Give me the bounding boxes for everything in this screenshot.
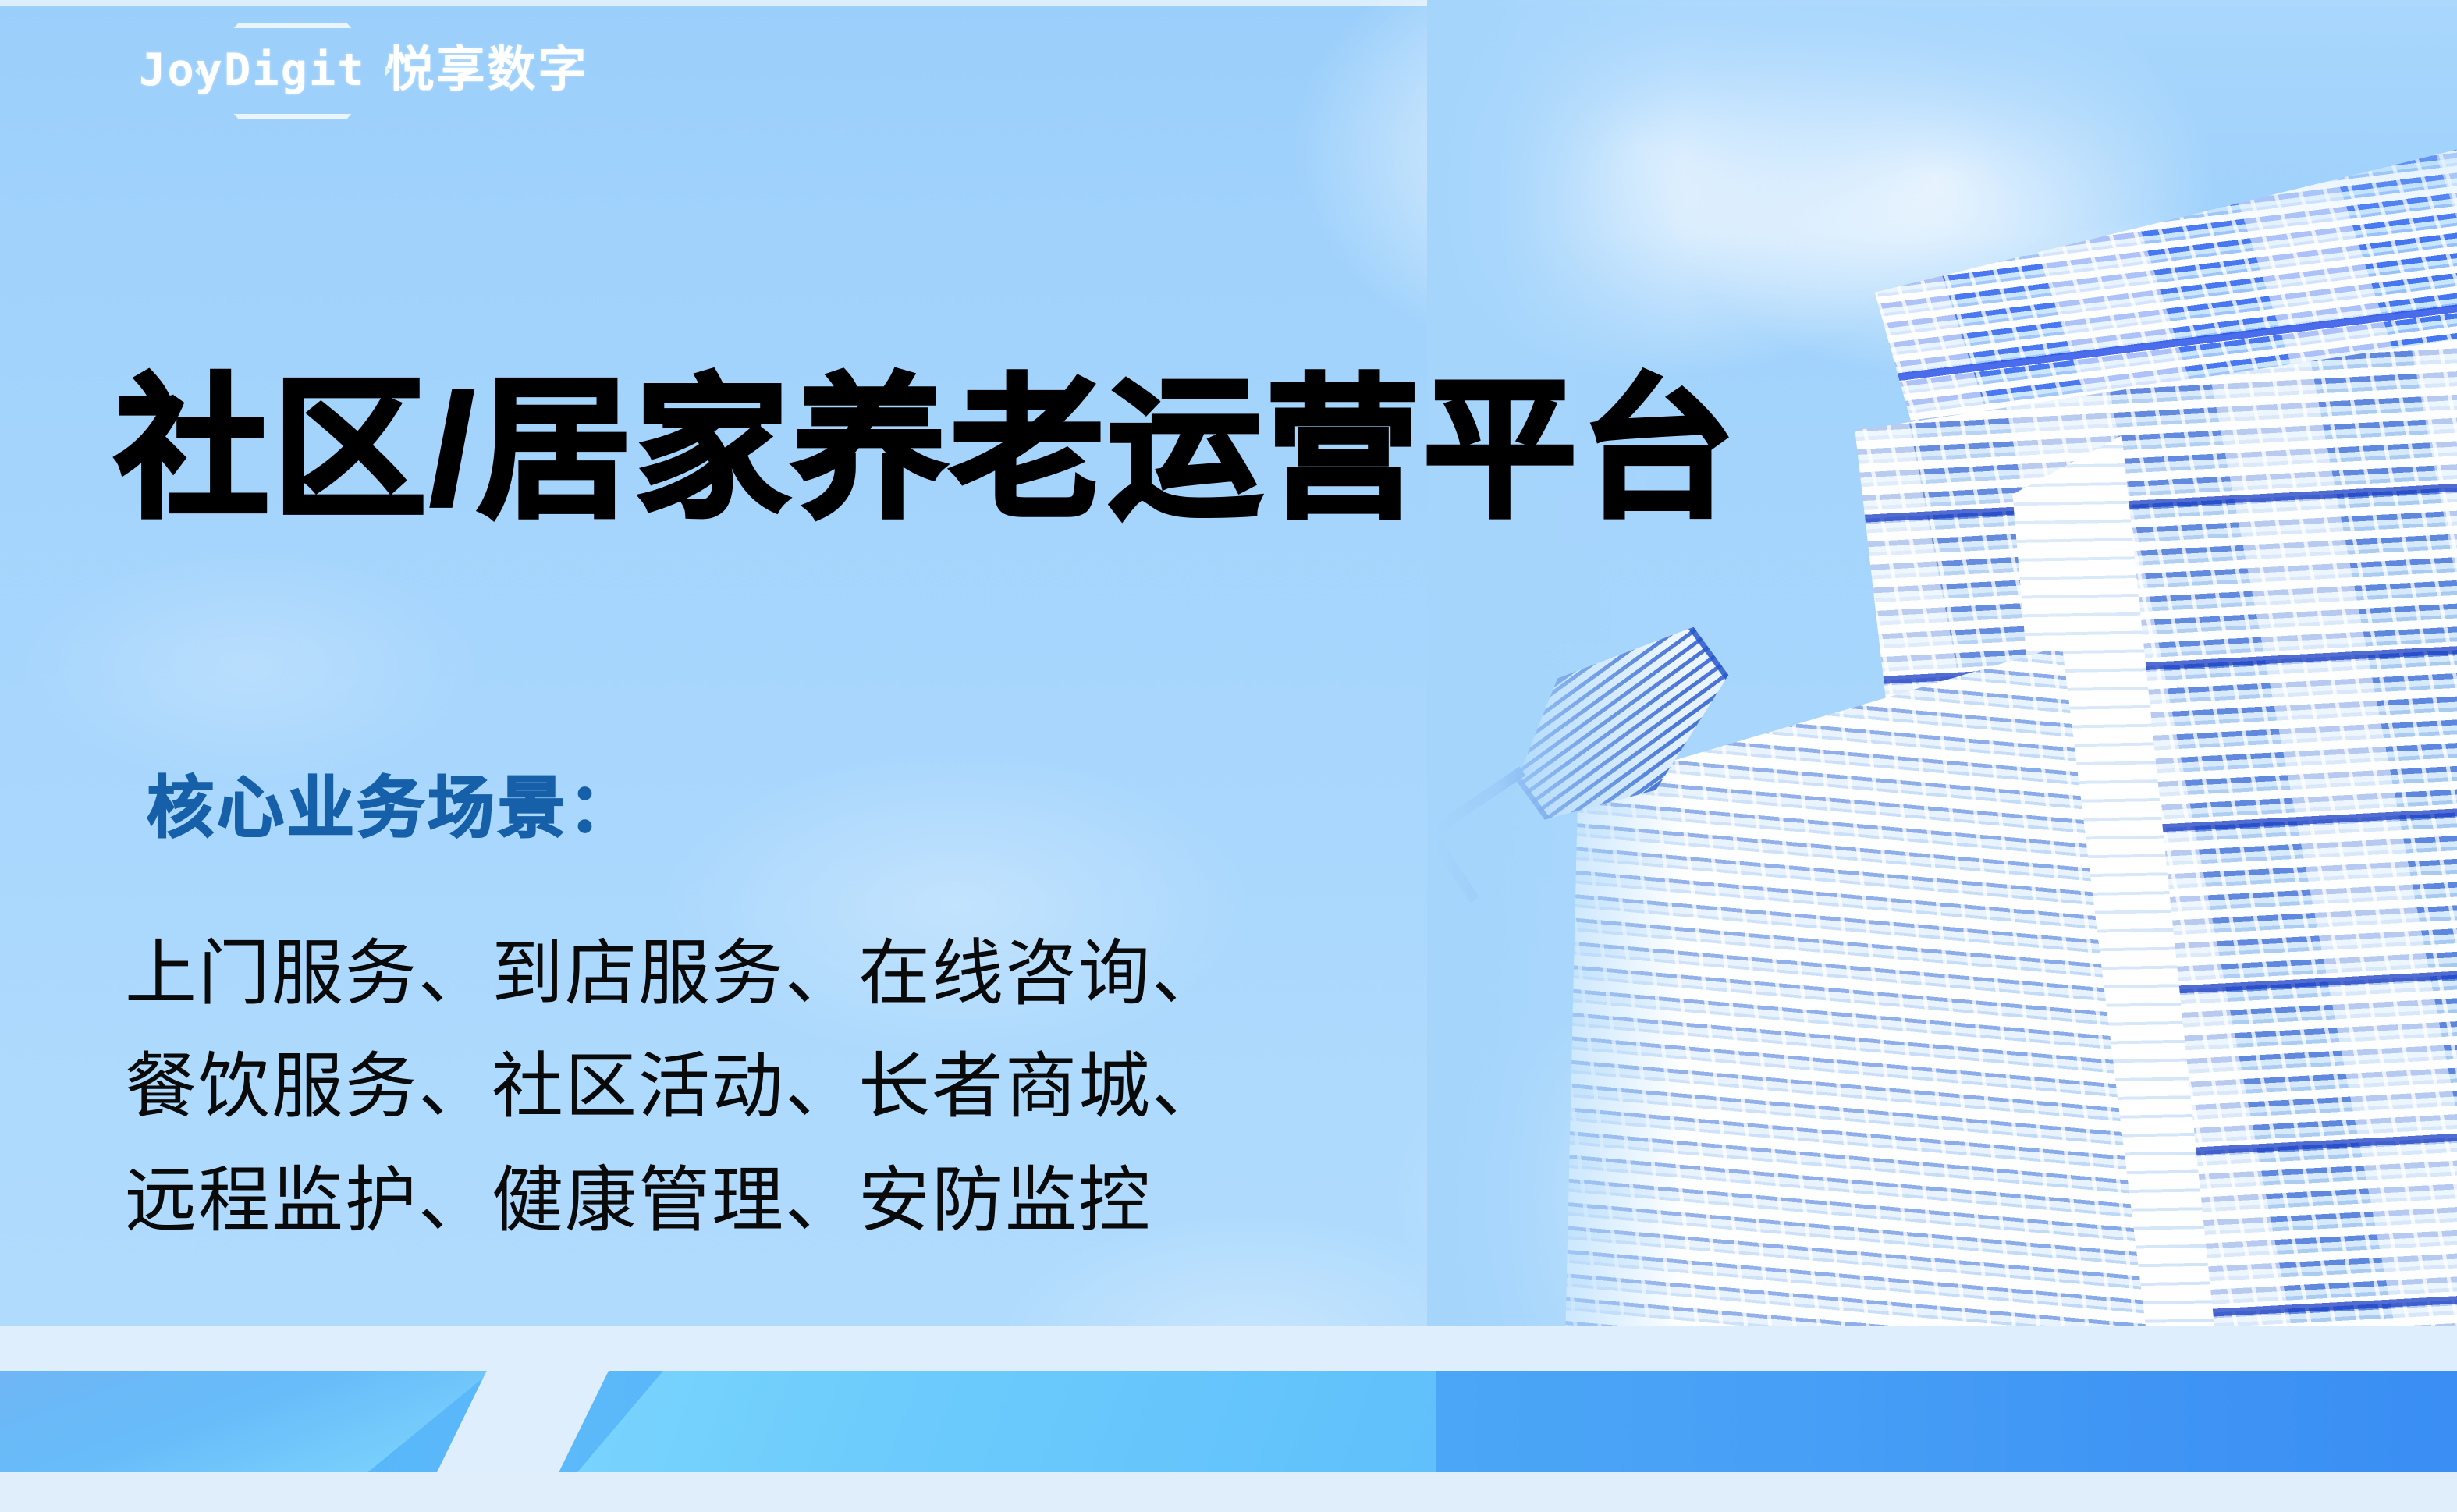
skyscraper-photo (1427, 0, 2457, 1397)
scenario-line: 餐饮服务、社区活动、长者商城、 (125, 1031, 1225, 1144)
scenario-line: 远程监护、健康管理、安防监控 (125, 1145, 1225, 1258)
page-title: 社区/居家养老运营平台 (115, 360, 1738, 540)
band-parallelogram-right (577, 1371, 1436, 1472)
scenario-line: 上门服务、到店服务、在线咨询、 (125, 917, 1225, 1031)
section-label-core-scenarios: 核心业务场景： (147, 768, 638, 849)
bottom-decorative-band (0, 1326, 2457, 1512)
logo-latin-wordmark: JoyDigit (139, 48, 366, 93)
slide-root: JoyDigit 悦享数字 社区/居家养老运营平台 核心业务场景： 上门服务、到… (0, 0, 2457, 1512)
logo-chinese-wordmark: 悦享数字 (386, 46, 589, 94)
scenario-list: 上门服务、到店服务、在线咨询、 餐饮服务、社区活动、长者商城、 远程监护、健康管… (125, 917, 1225, 1258)
brand-logo[interactable]: JoyDigit 悦享数字 (139, 33, 589, 108)
